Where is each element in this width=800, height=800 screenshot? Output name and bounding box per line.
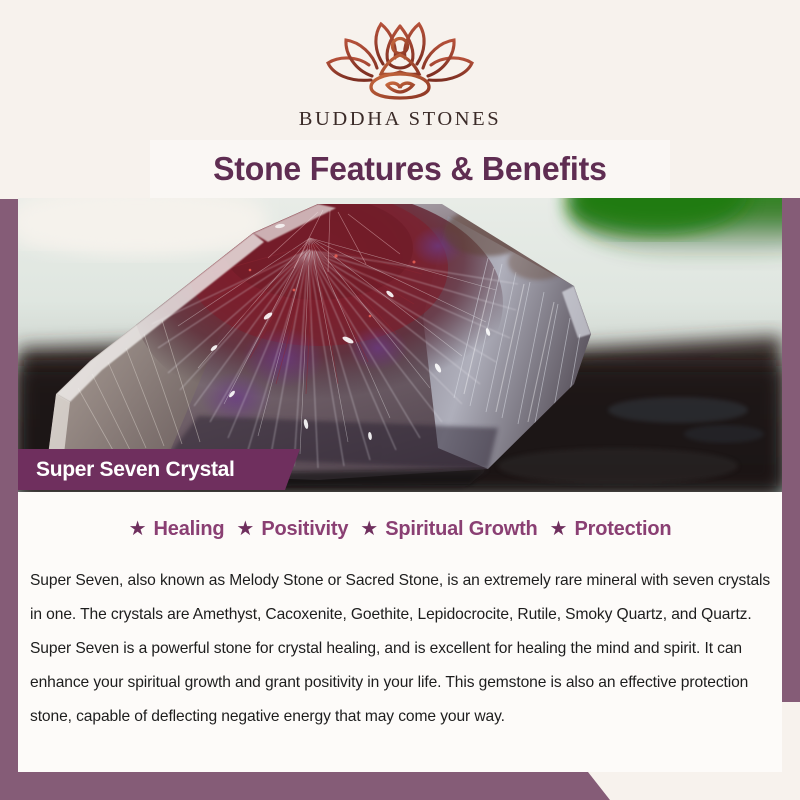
brand-name: BUDDHA STONES [299, 108, 502, 131]
star-icon: ★ [129, 519, 147, 539]
benefit-label: Healing [154, 518, 225, 541]
photo-caption-text: Super Seven Crystal [18, 458, 235, 482]
photo-caption-banner: Super Seven Crystal [18, 449, 300, 490]
star-icon: ★ [236, 519, 254, 539]
benefit-label: Spiritual Growth [385, 518, 537, 541]
crystal-photo [18, 198, 782, 492]
description-text: Super Seven, also known as Melody Stone … [30, 564, 772, 734]
benefit-item-spiritual-growth: ★ Spiritual Growth [360, 518, 537, 541]
content-panel: ★ Healing ★ Positivity ★ Spiritual Growt… [18, 492, 782, 772]
lotus-meditation-icon [315, 18, 485, 104]
benefit-item-healing: ★ Healing [129, 518, 225, 541]
benefit-item-positivity: ★ Positivity [236, 518, 348, 541]
benefit-label: Protection [574, 518, 671, 541]
star-icon: ★ [550, 519, 568, 539]
page-title: Stone Features & Benefits [213, 150, 607, 188]
star-icon: ★ [360, 519, 378, 539]
infographic-page: BUDDHA STONES Stone Features & Benefits [0, 0, 800, 800]
frame-band-left [0, 199, 18, 772]
frame-band-bottom [0, 772, 610, 800]
brand-logo: BUDDHA STONES [0, 18, 800, 131]
crystal-photo-illustration [18, 198, 782, 492]
benefit-item-protection: ★ Protection [550, 518, 672, 541]
frame-band-right [782, 198, 800, 702]
title-band: Stone Features & Benefits [150, 140, 670, 198]
benefit-label: Positivity [261, 518, 348, 541]
benefits-list: ★ Healing ★ Positivity ★ Spiritual Growt… [18, 518, 782, 541]
